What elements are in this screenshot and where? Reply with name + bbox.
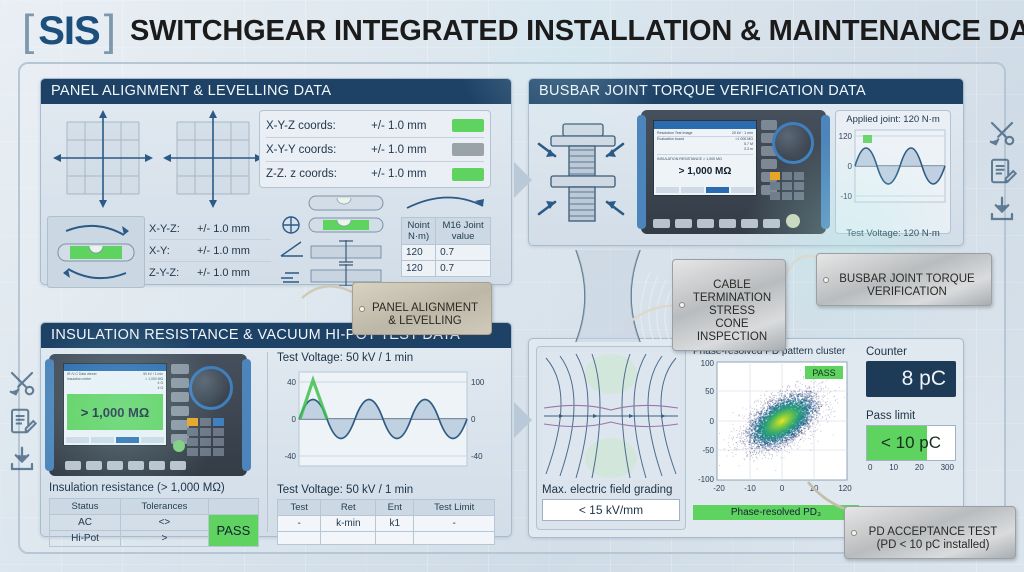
joint-table-cell: 0.7 — [436, 245, 491, 261]
panel-busbar-title: BUSBAR JOINT TORQUE VERIFICATION DATA — [529, 79, 963, 104]
test-table-cell — [376, 532, 414, 545]
diagram-root: [ SIS ] SWITCHGEAR INTEGRATED INSTALLATI… — [0, 0, 1024, 572]
coord-row: Z-Z. z coords:+/- 1.0 mm — [266, 162, 484, 186]
pd-ytick-2: 0 — [710, 417, 715, 426]
pd-xtick-0: -20 — [713, 484, 725, 493]
panel-insulation: INSULATION RESISTANCE & VACUUM HI-POT TE… — [40, 322, 512, 537]
insulation-test-instrument: IR /V-C Data viewer50 kV / 1 min Insulat… — [49, 354, 247, 476]
tag-cable-termination-text: CABLE TERMINATION STRESS CONE INSPECTION — [693, 279, 771, 343]
busbar-ytick-bot: -10 — [840, 192, 852, 201]
insulation-readout: > 1,000 MΩ — [67, 394, 163, 430]
joint-table-wrap: NointN·m)M16 Jointvalue 1200.71200.7 — [401, 192, 491, 277]
insulation-rotary-dial[interactable] — [189, 366, 233, 410]
tag-panel-alignment-text: PANEL ALIGNMENT & LEVELLING — [372, 302, 478, 327]
instr-line-0: Resolution Test Image — [657, 131, 693, 136]
status-table-header: Tolerances — [121, 499, 209, 515]
left-icon-rail — [2, 368, 42, 474]
joint-table-cell: 0.7 — [436, 261, 491, 277]
pass-limit-value: < 10 pC — [867, 426, 955, 460]
field-grading-value: < 15 kV/mm — [542, 499, 680, 521]
test-table: TestRetEntTest Limit -k-mink1- — [277, 499, 495, 545]
field-grading-label: Max. electric field grading — [542, 484, 680, 496]
tag-cable-termination[interactable]: CABLE TERMINATION STRESS CONE INSPECTION — [672, 259, 786, 351]
hipot-ytick-l1: 0 — [292, 415, 297, 424]
counter-value: 8 pC — [866, 361, 956, 397]
table-row: 1200.7 — [402, 261, 491, 277]
arrow-right-bottom — [512, 400, 534, 440]
pd-ytick-4: -100 — [698, 475, 715, 484]
logo-text: SIS — [34, 9, 103, 54]
busbar-test-instrument: Resolution Test Image20 kV · 1 min Evalu… — [641, 110, 826, 234]
clipboard-pen-icon[interactable] — [987, 156, 1017, 186]
field-lines-art — [542, 352, 680, 480]
table-row: 1200.7 — [402, 245, 491, 261]
right-icon-rail — [982, 118, 1022, 224]
panel-busbar-body: Resolution Test Image20 kV · 1 min Evalu… — [529, 106, 963, 245]
coord-tolerance: +/- 1.0 mm — [371, 144, 452, 156]
coord-tolerance: +/- 1.0 mm — [371, 120, 452, 132]
test-table-header: Test Limit — [414, 500, 495, 516]
level-row: Z-Y-Z:+/- 1.0 mm — [149, 262, 271, 284]
panel-alignment: PANEL ALIGNMENT & LEVELLING DATA — [40, 78, 512, 285]
pass-limit-scale: 0 10 20 300 — [866, 463, 956, 472]
test-table-header: Test — [278, 500, 321, 516]
tag-panel-alignment[interactable]: PANEL ALIGNMENT & LEVELLING — [352, 282, 492, 335]
pd-ytick-1: 50 — [705, 387, 714, 396]
field-grading-card: Max. electric field grading < 15 kV/mm — [536, 346, 686, 530]
coord-status-chip — [452, 168, 484, 181]
test-table-cell: k1 — [376, 516, 414, 532]
pd-xtick-2: 0 — [780, 484, 785, 493]
hipot-ytick-r1: 0 — [471, 415, 476, 424]
status-table-wrap: StatusTolerances AC<>PASSHi-Pot> — [49, 498, 259, 547]
coord-status-chip — [452, 119, 484, 132]
busbar-chart-title: Applied joint: 120 N·m — [839, 114, 947, 125]
level-label: X-Y-Z: — [149, 223, 197, 235]
bracket-right-icon: ] — [104, 9, 116, 53]
coord-row: X-Y-Y coords:+/- 1.0 mm — [266, 138, 484, 162]
download-icon[interactable] — [987, 194, 1017, 224]
coord-label: Z-Z. z coords: — [266, 168, 371, 180]
busbar-sine-chart: 120 0 -10 — [839, 126, 949, 222]
busbar-chart-card: Applied joint: 120 N·m 120 0 -10 Test Vo… — [835, 110, 951, 234]
level-value: +/- 1.0 mm — [197, 223, 250, 235]
busbar-ytick-top: 120 — [839, 132, 853, 141]
scale-tick-0: 0 — [868, 463, 872, 472]
test-table-cell: k-min — [321, 516, 376, 532]
joint-table-header: NointN·m) — [402, 218, 436, 245]
tools-icon[interactable] — [987, 118, 1017, 148]
instr-line-2: INSULATION RESISTANCE > 1,000 MΩ — [657, 154, 753, 162]
instrument-screen: Resolution Test Image20 kV · 1 min Evalu… — [653, 120, 757, 196]
hipot-chart-wrap: Test Voltage: 50 kV / 1 min 40 0 -40 100… — [277, 352, 495, 545]
insulation-caption: Insulation resistance (> 1,000 MΩ) — [49, 482, 225, 494]
hipot-ytick-r0: 100 — [471, 378, 485, 387]
panel-insulation-body: IR /V-C Data viewer50 kV / 1 min Insulat… — [41, 350, 511, 536]
status-cell: AC — [50, 515, 121, 531]
hipot-ytick-l2: -40 — [284, 452, 296, 461]
joint-table-cell: 120 — [402, 261, 436, 277]
status-table-header — [208, 499, 258, 515]
alignment-grid-art — [49, 110, 274, 215]
status-cell: Hi-Pot — [50, 531, 121, 547]
arrow-right-top — [512, 160, 534, 200]
pd-xtick-1: -10 — [744, 484, 756, 493]
page-header: [ SIS ] SWITCHGEAR INTEGRATED INSTALLATI… — [0, 0, 1024, 62]
coord-status-chip — [452, 143, 484, 156]
bolt-torque-art — [533, 110, 629, 239]
hipot-sine-chart: 40 0 -40 100 0 -40 — [277, 366, 495, 478]
hipot-chart-caption: Test Voltage: 50 kV / 1 min — [277, 484, 495, 496]
joint-table-header: M16 Jointvalue — [436, 218, 491, 245]
joint-table: NointN·m)M16 Jointvalue 1200.71200.7 — [401, 217, 491, 277]
level-value: +/- 1.0 mm — [197, 267, 250, 279]
panel-busbar: BUSBAR JOINT TORQUE VERIFICATION DATA — [528, 78, 964, 246]
level-rows-list: X-Y-Z:+/- 1.0 mmX-Y:+/- 1.0 mmZ-Y-Z:+/- … — [149, 218, 271, 284]
joint-table-cell: 120 — [402, 245, 436, 261]
tag-pd-acceptance[interactable]: PD ACCEPTANCE TEST (PD < 10 pC installed… — [844, 506, 1016, 559]
curved-arrow-icon — [401, 192, 491, 212]
level-label: Z-Y-Z: — [149, 267, 197, 279]
pd-readout-column: Counter 8 pC Pass limit < 10 pC 0 10 20 … — [866, 346, 956, 530]
pd-scatter-chart: PASS 100 50 0 -50 -100 -20 -10 0 10 120 — [693, 358, 859, 498]
tolerance-cell: <> — [121, 515, 209, 531]
coord-tolerance: +/- 1.0 mm — [371, 168, 452, 180]
scale-tick-3: 300 — [941, 463, 954, 472]
scale-tick-2: 20 — [915, 463, 924, 472]
tag-pd-acceptance-text: PD ACCEPTANCE TEST (PD < 10 pC installed… — [869, 526, 998, 551]
instr-line-1: Evaluation board — [657, 137, 684, 142]
page-title: SWITCHGEAR INTEGRATED INSTALLATION & MAI… — [130, 15, 1024, 48]
tools-icon[interactable] — [7, 368, 37, 398]
scale-tick-1: 10 — [889, 463, 898, 472]
panel-alignment-body: X-Y-Z coords:+/- 1.0 mmX-Y-Y coords:+/- … — [41, 106, 511, 284]
download-icon[interactable] — [7, 444, 37, 474]
status-table: StatusTolerances AC<>PASSHi-Pot> — [49, 498, 259, 547]
rotary-dial[interactable] — [772, 122, 814, 164]
coord-row: X-Y-Z coords:+/- 1.0 mm — [266, 114, 484, 138]
panel-alignment-title: PANEL ALIGNMENT & LEVELLING DATA — [41, 79, 511, 104]
coord-label: X-Y-Z coords: — [266, 120, 371, 132]
level-row: X-Y-Z:+/- 1.0 mm — [149, 218, 271, 240]
panel-pd-body: Max. electric field grading < 15 kV/mm P… — [536, 346, 956, 530]
tag-busbar-torque[interactable]: BUSBAR JOINT TORQUE VERIFICATION — [816, 253, 992, 306]
brand-logo: [ SIS ] — [22, 9, 116, 54]
clipboard-pen-icon[interactable] — [7, 406, 37, 436]
pass-limit-gauge: < 10 pC — [866, 425, 956, 461]
hipot-ytick-l0: 40 — [287, 378, 296, 387]
coords-table-card: X-Y-Z coords:+/- 1.0 mmX-Y-Y coords:+/- … — [259, 110, 491, 188]
test-table-cell — [414, 532, 495, 545]
busbar-readout: > 1,000 MΩ — [654, 166, 756, 177]
level-label: X-Y: — [149, 245, 197, 257]
table-row: AC<>PASS — [50, 515, 259, 531]
counter-label: Counter — [866, 346, 956, 358]
test-table-cell: - — [414, 516, 495, 532]
tag-busbar-torque-text: BUSBAR JOINT TORQUE VERIFICATION — [839, 273, 974, 298]
test-table-cell: - — [278, 516, 321, 532]
table-row: -k-mink1- — [278, 516, 495, 532]
busbar-ytick-mid: 0 — [848, 162, 853, 171]
status-table-header: Status — [50, 499, 121, 515]
status-verdict: PASS — [208, 515, 258, 547]
spirit-level-rotation-art — [47, 216, 145, 288]
test-table-header: Ent — [376, 500, 414, 516]
level-value: +/- 1.0 mm — [197, 245, 250, 257]
bracket-left-icon: [ — [22, 9, 34, 53]
test-table-cell — [321, 532, 376, 545]
pd-ytick-0: 100 — [701, 359, 715, 368]
panel-divider — [267, 352, 268, 532]
pd-ytick-3: -50 — [702, 446, 714, 455]
hipot-chart-title: Test Voltage: 50 kV / 1 min — [277, 352, 495, 364]
hipot-ytick-r2: -40 — [471, 452, 483, 461]
test-table-header: Ret — [321, 500, 376, 516]
pass-limit-label: Pass limit — [866, 410, 956, 422]
pd-pass-badge: PASS — [812, 368, 835, 378]
insulation-instrument-screen: IR /V-C Data viewer50 kV / 1 min Insulat… — [63, 363, 167, 446]
coord-label: X-Y-Y coords: — [266, 144, 371, 156]
test-table-cell — [278, 532, 321, 545]
table-row — [278, 532, 495, 545]
busbar-chart-caption: Test Voltage: 120 N·m — [839, 228, 947, 239]
tolerance-cell: > — [121, 531, 209, 547]
level-row: X-Y:+/- 1.0 mm — [149, 240, 271, 262]
